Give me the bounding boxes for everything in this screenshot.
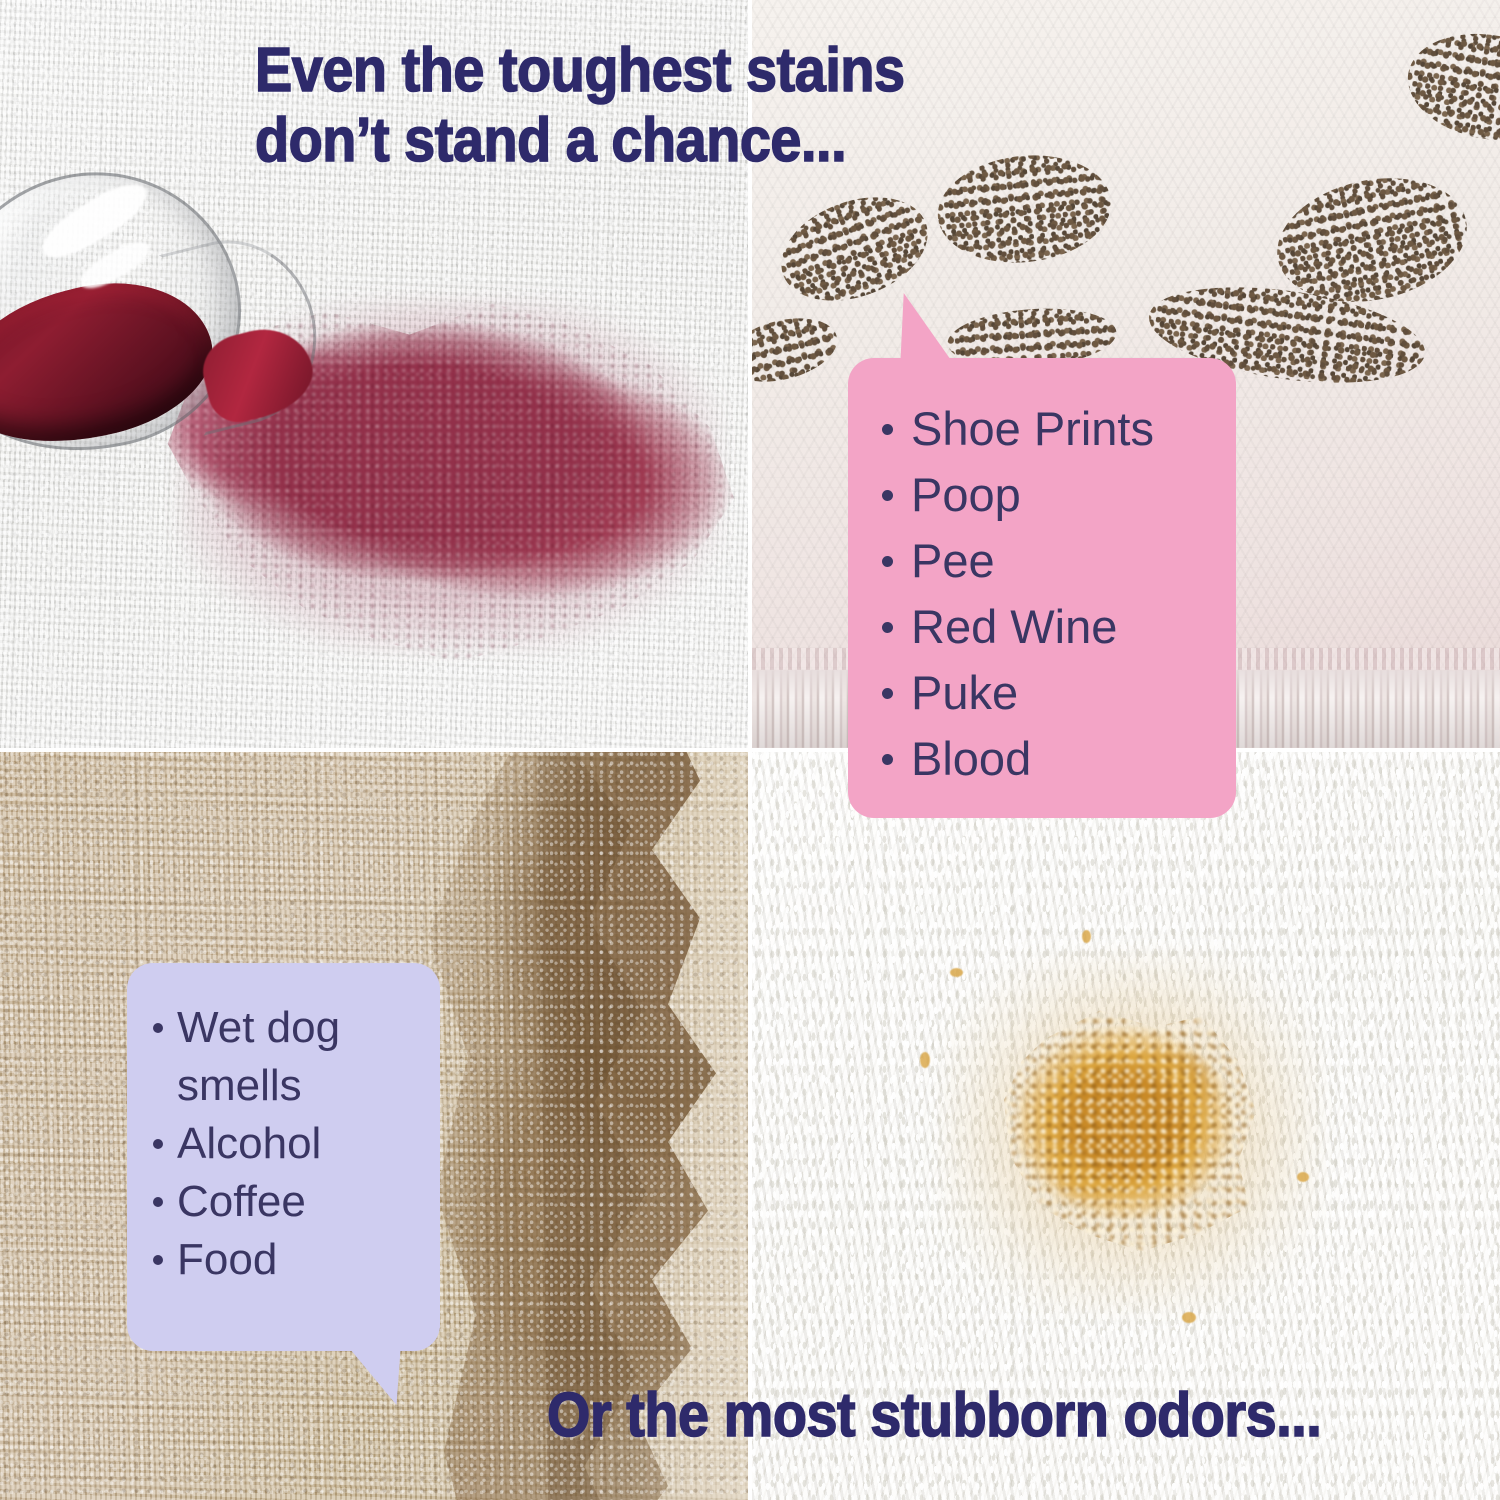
list-item: Red Wine: [882, 594, 1236, 660]
list-item-label: Red Wine: [911, 594, 1117, 660]
list-item-label: Wet dog smells: [177, 999, 440, 1115]
headline-top: Even the toughest stains don’t stand a c…: [255, 36, 905, 176]
bullet-dot-icon: [882, 754, 893, 765]
list-item-label: Alcohol: [177, 1115, 321, 1173]
list-item-label: Puke: [911, 660, 1018, 726]
bullet-dot-icon: [882, 688, 893, 699]
list-item: Coffee: [153, 1173, 440, 1231]
bullet-dot-icon: [882, 556, 893, 567]
shoe-print-mark: [926, 141, 1122, 278]
list-item-label: Blood: [911, 726, 1031, 792]
list-item-label: Shoe Prints: [911, 396, 1154, 462]
vomit-fleck: [1082, 930, 1091, 943]
list-item: Blood: [882, 726, 1236, 792]
vomit-fleck: [1182, 1312, 1196, 1323]
list-item: Alcohol: [153, 1115, 440, 1173]
list-item: Pee: [882, 528, 1236, 594]
stains-callout-bubble: Shoe Prints Poop Pee Red Wine Puke Blood: [848, 358, 1236, 818]
bullet-dot-icon: [882, 424, 893, 435]
bullet-dot-icon: [153, 1023, 163, 1033]
stains-list: Shoe Prints Poop Pee Red Wine Puke Blood: [848, 358, 1236, 792]
list-item: Shoe Prints: [882, 396, 1236, 462]
vomit-fleck: [950, 968, 963, 977]
vomit-fleck: [1297, 1172, 1309, 1182]
bullet-dot-icon: [153, 1139, 163, 1149]
shoe-print-mark: [752, 302, 849, 399]
shoe-print-mark: [759, 170, 951, 328]
list-item: Food: [153, 1231, 440, 1289]
bullet-dot-icon: [882, 622, 893, 633]
product-feature-poster: Even the toughest stains don’t stand a c…: [0, 0, 1500, 1500]
bullet-dot-icon: [153, 1197, 163, 1207]
horizontal-divider: [0, 748, 1500, 752]
list-item-label: Coffee: [177, 1173, 306, 1231]
list-item-label: Poop: [911, 462, 1021, 528]
vomit-fleck: [920, 1052, 930, 1068]
shoe-print-mark: [1391, 13, 1500, 160]
list-item: Wet dog smells: [153, 999, 440, 1115]
list-item: Puke: [882, 660, 1236, 726]
list-item: Poop: [882, 462, 1236, 528]
list-item-label: Pee: [911, 528, 995, 594]
odors-callout-bubble: Wet dog smells Alcohol Coffee Food: [127, 963, 440, 1351]
odors-list: Wet dog smells Alcohol Coffee Food: [127, 963, 440, 1289]
headline-bottom: Or the most stubborn odors...: [547, 1382, 1321, 1450]
list-item-label: Food: [177, 1231, 277, 1289]
bullet-dot-icon: [882, 490, 893, 501]
bullet-dot-icon: [153, 1255, 163, 1265]
